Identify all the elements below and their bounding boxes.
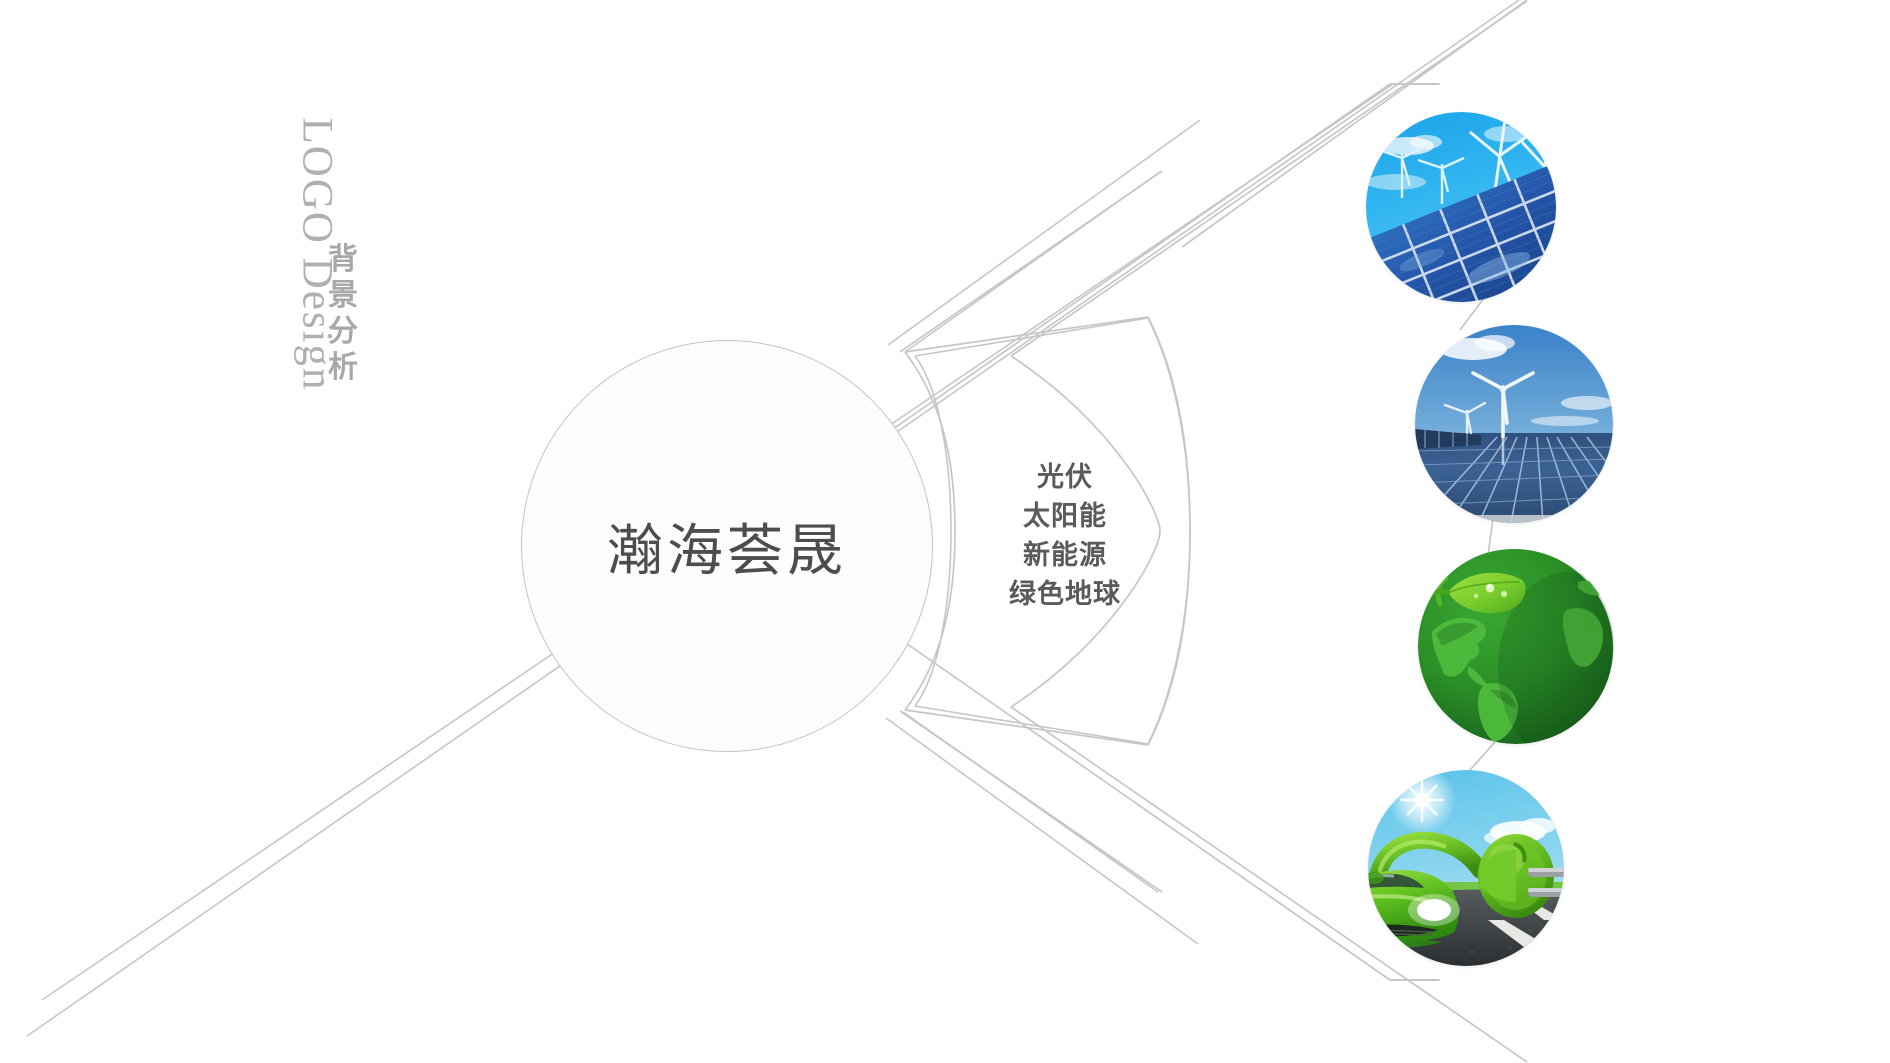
photo-bubble-solar-farm-wind-turbine-horizon	[1415, 325, 1613, 523]
photo-bubble-green-electric-car-with-plug	[1368, 770, 1564, 966]
green-grass-globe-with-leaf-icon	[1418, 548, 1614, 744]
bubble-connectors	[0, 0, 1890, 1063]
solar-panels-wind-turbines-blue-sky-icon	[1366, 112, 1556, 302]
solar-farm-wind-turbine-horizon-icon	[1415, 325, 1613, 523]
photo-bubble-solar-panels-wind-turbines-blue-sky	[1366, 112, 1556, 302]
photo-bubble-green-grass-globe-with-leaf	[1418, 548, 1614, 744]
slide-canvas: LOGO Design 背 景 分 析 瀚海荟晟 光伏 太阳能 新能源 绿色地球	[0, 0, 1890, 1063]
green-electric-car-with-plug-icon	[1368, 770, 1564, 966]
